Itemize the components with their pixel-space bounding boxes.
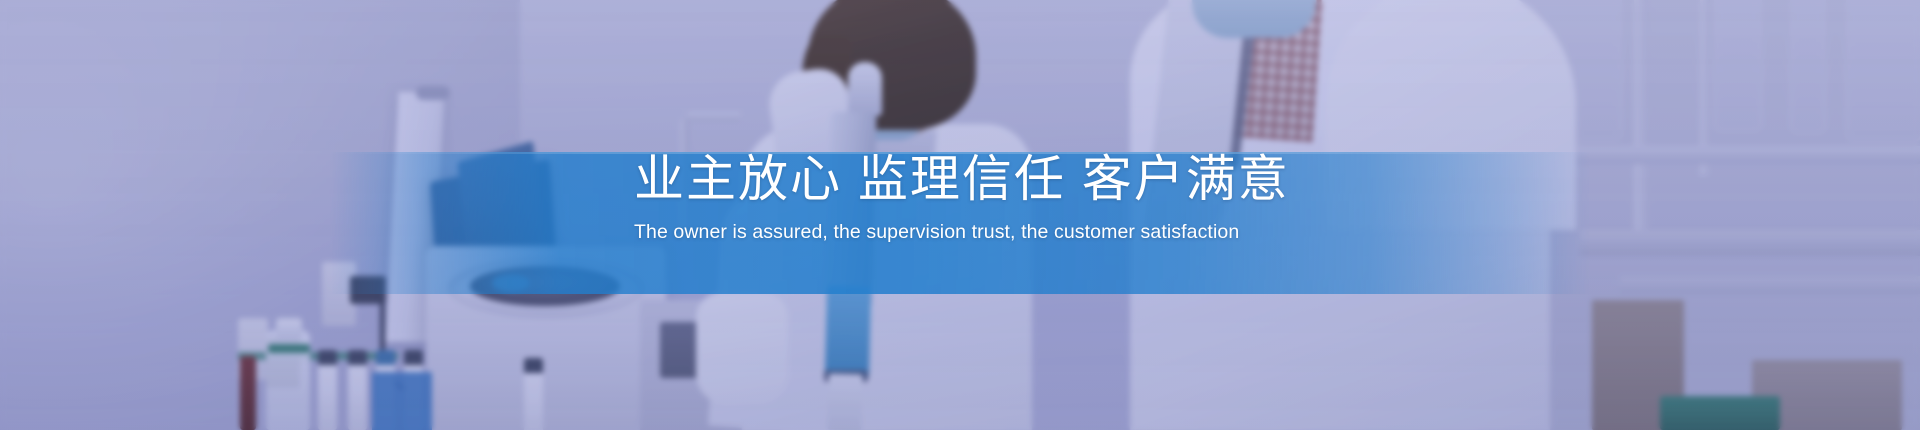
banner-subheadline: The owner is assured, the supervision tr… — [634, 208, 1734, 245]
hero-banner: 业主放心 监理信任 客户满意 The owner is assured, the… — [0, 0, 1920, 430]
banner-headline: 业主放心 监理信任 客户满意 — [634, 150, 1734, 208]
slogan-text-block: 业主放心 监理信任 客户满意 The owner is assured, the… — [634, 150, 1734, 245]
